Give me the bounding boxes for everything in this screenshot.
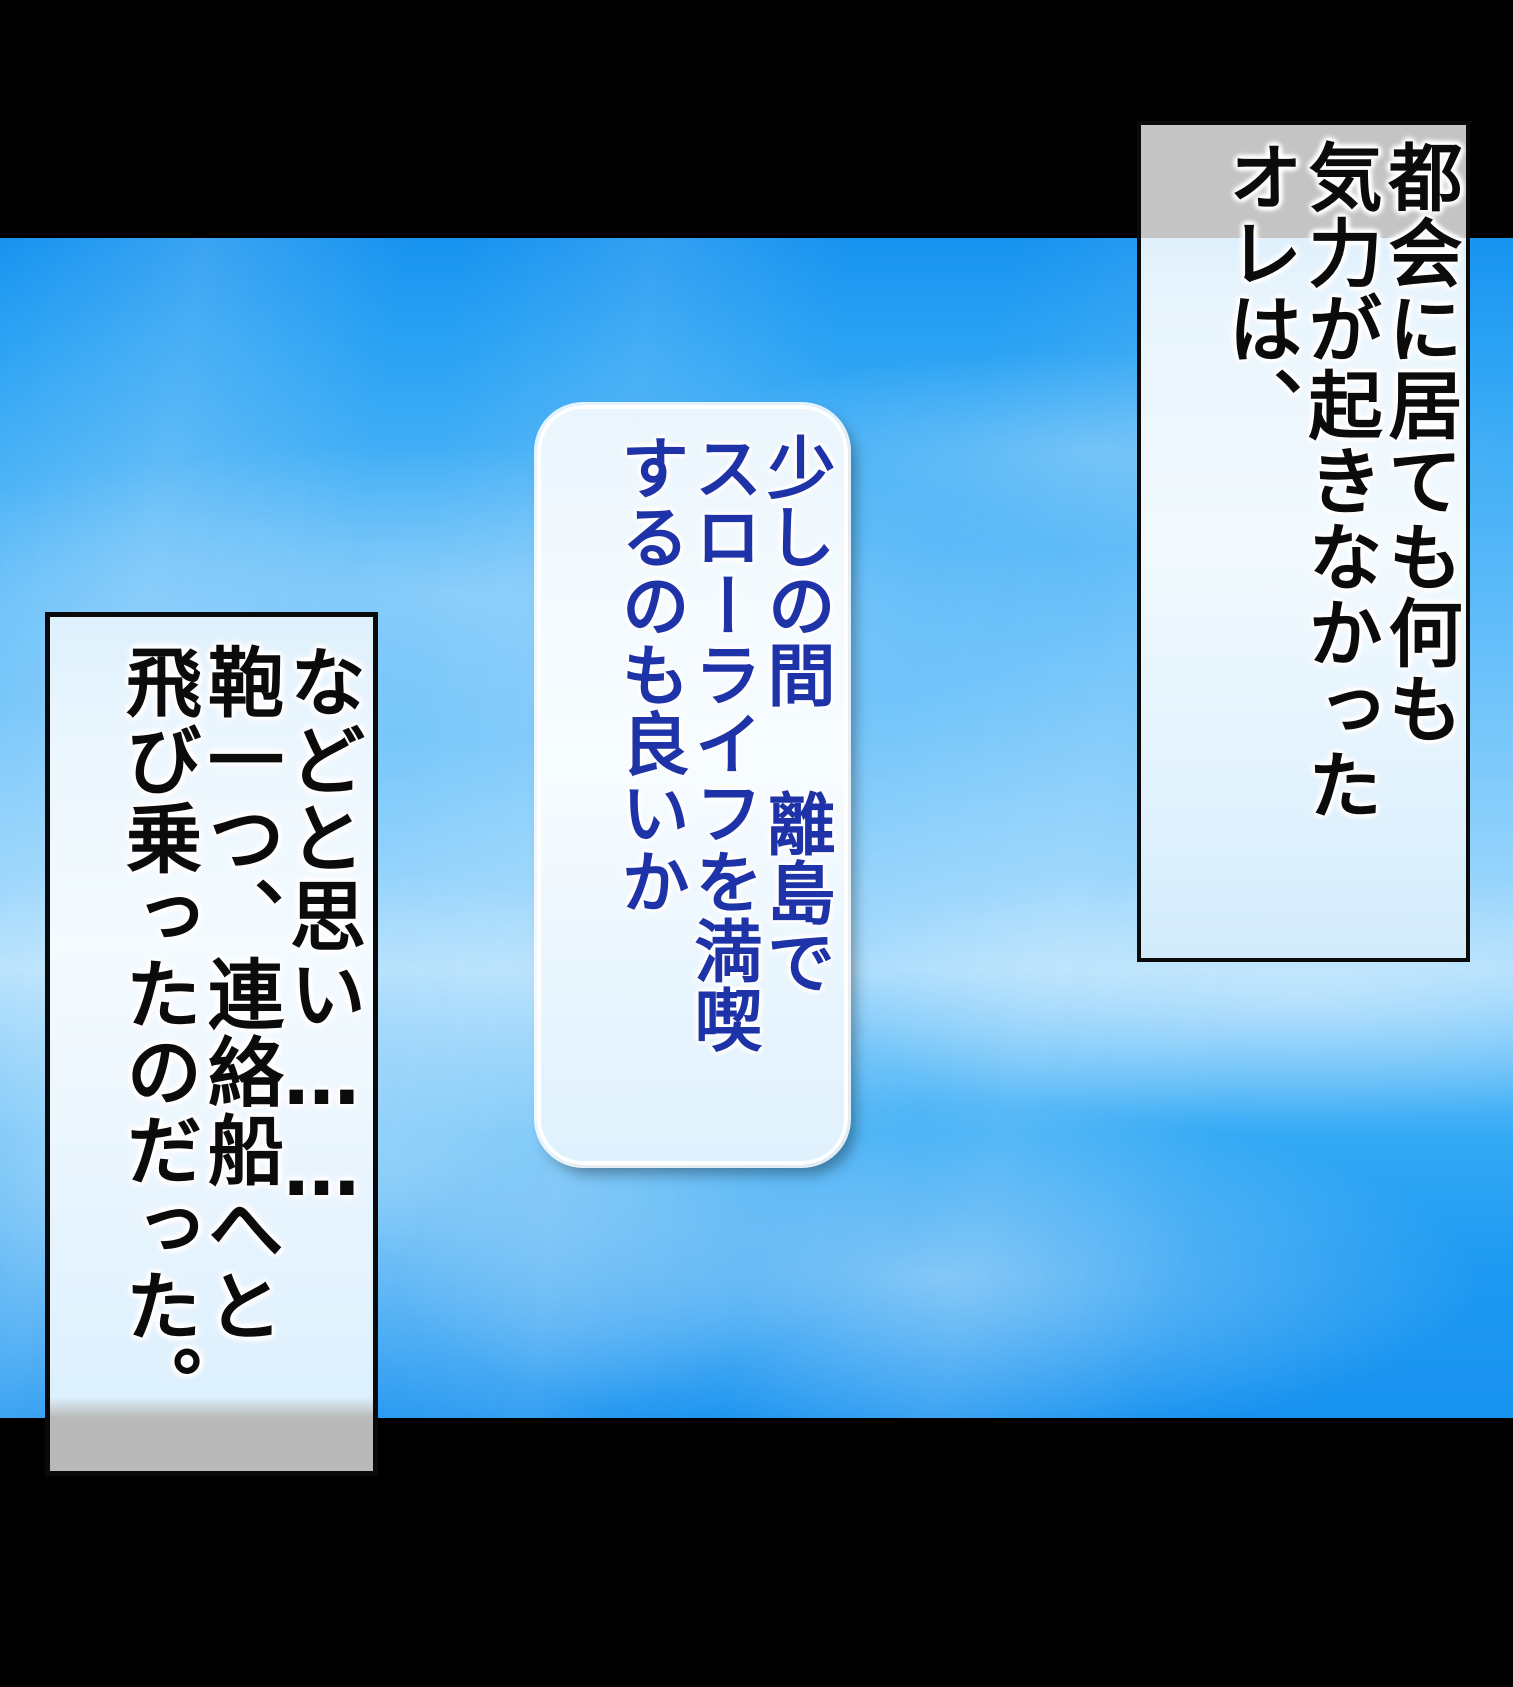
narration-bl-column-2: 鞄一つ、連絡船へと <box>201 643 277 1345</box>
narration-bl-column-3: 飛び乗ったのだった。 <box>119 643 195 1423</box>
speech-bubble-center: 少しの間 離島で スローライフを満喫 するのも良いか <box>537 405 848 1165</box>
narration-box-bottom-left: などと思い…… 鞄一つ、連絡船へと 飛び乗ったのだった。 <box>45 612 378 1476</box>
bubble-column-3: するのも良いか <box>614 433 682 916</box>
narration-box-top-right: 都会に居ても何も 気力が起きなかった オレは、 <box>1137 121 1470 962</box>
narration-column-2: 気力が起きなかった <box>1302 139 1376 823</box>
bubble-column-2: スローライフを満喫 <box>687 433 755 1054</box>
narration-bl-column-1: などと思い…… <box>283 643 359 1215</box>
narration-column-1: 都会に居ても何も <box>1382 139 1456 747</box>
bubble-column-1: 少しの間 離島で <box>760 433 828 996</box>
manga-page: 都会に居ても何も 気力が起きなかった オレは、 少しの間 離島で スローライフを… <box>0 0 1513 1687</box>
narration-column-3: オレは、 <box>1222 139 1296 443</box>
